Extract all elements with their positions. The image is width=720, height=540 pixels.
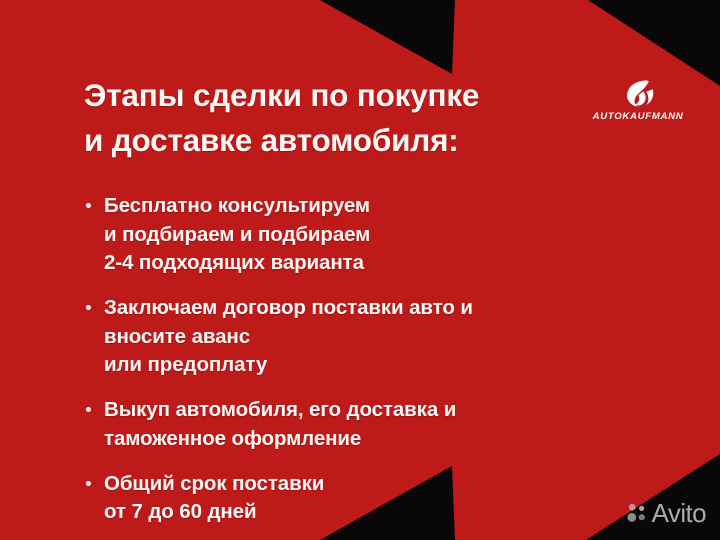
page-title: Этапы сделки по покупке и доставке автом…	[84, 73, 614, 162]
promo-banner: Этапы сделки по покупке и доставке автом…	[0, 0, 720, 540]
bullet-dot-icon	[86, 481, 91, 486]
logo-wordmark: AUTOKAUFMANN	[586, 111, 690, 122]
avito-watermark: Avito	[626, 500, 706, 526]
list-item-line: Общий срок поставки	[104, 470, 324, 499]
list-item: Выкуп автомобиля, его доставка и таможен…	[86, 396, 606, 453]
list-item-line: Выкуп автомобиля, его доставка и	[104, 396, 456, 425]
title-line-2: и доставке автомобиля:	[84, 118, 614, 163]
list-item-line: от 7 до 60 дней	[104, 498, 324, 527]
list-item: Общий срок поставки от 7 до 60 дней	[86, 470, 606, 527]
avito-dots-icon	[626, 502, 648, 524]
list-item: Бесплатно консультируем и подбираем и по…	[86, 192, 606, 278]
bullet-dot-icon	[86, 305, 91, 310]
list-item-line: Бесплатно консультируем	[104, 192, 370, 221]
list-item-text: Заключаем договор поставки авто и вносит…	[104, 294, 473, 380]
list-item-line: 2-4 подходящих варианта	[104, 249, 370, 278]
list-item: Заключаем договор поставки авто и вносит…	[86, 294, 606, 380]
steps-list: Бесплатно консультируем и подбираем и по…	[86, 192, 606, 527]
list-item-line: таможенное оформление	[104, 425, 456, 454]
list-item-text: Выкуп автомобиля, его доставка и таможен…	[104, 396, 456, 453]
list-item-text: Общий срок поставки от 7 до 60 дней	[104, 470, 324, 527]
bullet-dot-icon	[86, 203, 91, 208]
title-line-1: Этапы сделки по покупке	[84, 73, 614, 118]
list-item-line: и подбираем и подбираем	[104, 221, 370, 250]
list-item-line: или предоплату	[104, 351, 473, 380]
flame-swoosh-icon	[621, 80, 655, 110]
list-item-line: Заключаем договор поставки авто и	[104, 294, 473, 323]
list-item-text: Бесплатно консультируем и подбираем и по…	[104, 192, 370, 278]
bullet-dot-icon	[86, 407, 91, 412]
avito-label: Avito	[652, 500, 706, 526]
brand-logo: AUTOKAUFMANN	[586, 80, 690, 122]
list-item-line: вносите аванс	[104, 323, 473, 352]
